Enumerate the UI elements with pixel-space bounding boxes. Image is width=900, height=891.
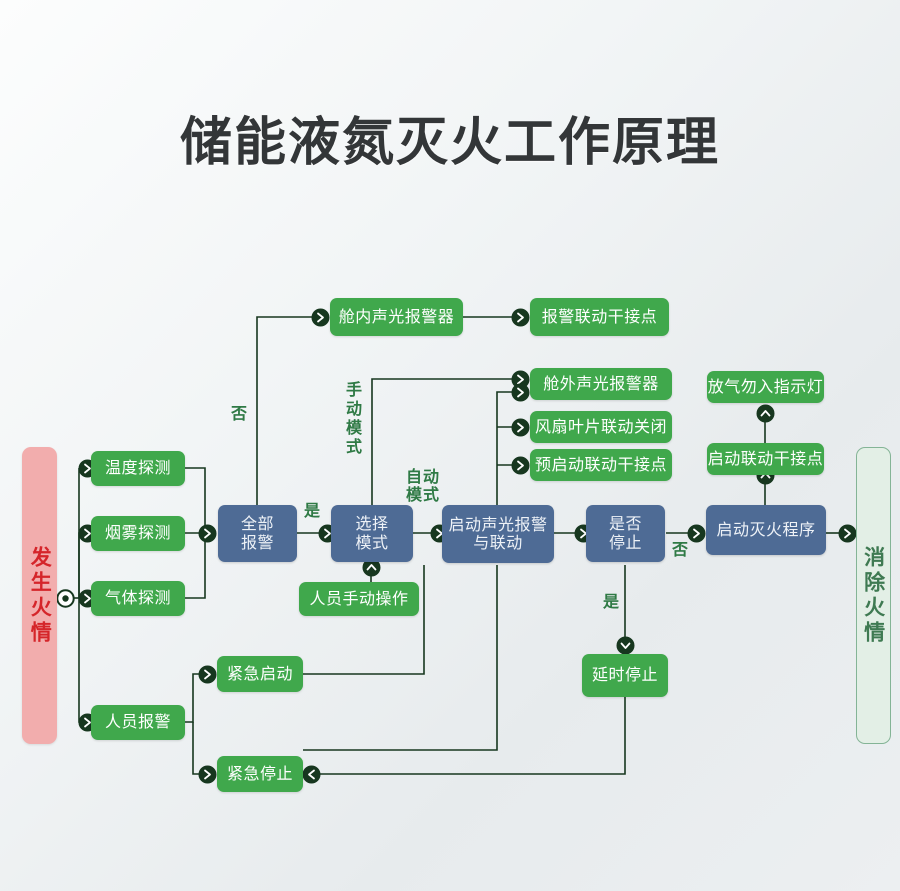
node-alarm-dry-contact[interactable]: 报警联动干接点 bbox=[530, 298, 669, 336]
arrow-to-gas-warning-lamp bbox=[756, 404, 775, 423]
edge-label-no-inner-alarm: 否 bbox=[231, 400, 248, 424]
arrow-delay-stop-to-emergency-stop bbox=[302, 765, 321, 784]
node-all-alarm[interactable]: 全部 报警 bbox=[218, 505, 297, 562]
node-emergency-start[interactable]: 紧急启动 bbox=[217, 656, 303, 692]
node-emergency-stop[interactable]: 紧急停止 bbox=[217, 756, 303, 792]
arrow-to-fan-blade-close bbox=[511, 418, 530, 437]
arrow-to-alarm-dry-contact bbox=[511, 308, 530, 327]
arrow-to-all-alarm bbox=[198, 524, 217, 543]
arrow-to-inner-alarm-device bbox=[311, 308, 330, 327]
node-start-fire[interactable]: 发生火情 bbox=[22, 447, 57, 744]
arrow-to-end bbox=[838, 524, 857, 543]
node-gas-detection[interactable]: 气体探测 bbox=[91, 581, 185, 616]
page-title: 储能液氮灭火工作原理 bbox=[0, 100, 900, 175]
edge-label-manual-mode: 手动模式 bbox=[340, 381, 364, 457]
node-end-fire-cleared[interactable]: 消除火情 bbox=[856, 447, 891, 744]
edge-label-auto-mode: 自动 模式 bbox=[406, 468, 440, 504]
node-person-alarm[interactable]: 人员报警 bbox=[91, 705, 185, 740]
flowchart-canvas: 储能液氮灭火工作原理 bbox=[0, 0, 900, 891]
node-gas-warning-lamp[interactable]: 放气勿入指示灯 bbox=[707, 371, 824, 403]
node-start-dry-contact[interactable]: 启动联动干接点 bbox=[707, 443, 824, 475]
node-is-stop[interactable]: 是否 停止 bbox=[586, 505, 665, 562]
node-prestart-dry-contact[interactable]: 预启动联动干接点 bbox=[530, 449, 672, 481]
arrow-to-delay-stop bbox=[616, 636, 635, 655]
edge-label-yes-select-mode: 是 bbox=[304, 497, 321, 521]
node-delay-stop[interactable]: 延时停止 bbox=[582, 654, 668, 697]
node-start-extinguish-program[interactable]: 启动灭火程序 bbox=[706, 505, 826, 555]
node-start-alarm-linkage[interactable]: 启动声光报警 与联动 bbox=[442, 505, 554, 563]
arrow-to-emergency-stop bbox=[198, 765, 217, 784]
node-select-mode[interactable]: 选择 模式 bbox=[331, 505, 413, 562]
arrow-to-prestart-dry-contact bbox=[511, 456, 530, 475]
edge-label-no-extinguish: 否 bbox=[672, 536, 689, 560]
node-temperature-detection[interactable]: 温度探测 bbox=[91, 451, 185, 486]
arrow-to-emergency-start bbox=[198, 665, 217, 684]
edge-label-yes-delay-stop: 是 bbox=[603, 588, 620, 612]
arrow-to-start-extinguish bbox=[687, 524, 706, 543]
node-manual-operation[interactable]: 人员手动操作 bbox=[299, 582, 419, 616]
arrow-auto-to-outer-alarm bbox=[511, 383, 530, 402]
node-smoke-detection[interactable]: 烟雾探测 bbox=[91, 516, 185, 551]
node-outer-alarm-device[interactable]: 舱外声光报警器 bbox=[530, 368, 672, 400]
node-inner-alarm-device[interactable]: 舱内声光报警器 bbox=[330, 298, 463, 336]
start-connector-dot bbox=[56, 589, 75, 608]
node-fan-blade-close[interactable]: 风扇叶片联动关闭 bbox=[530, 411, 672, 443]
